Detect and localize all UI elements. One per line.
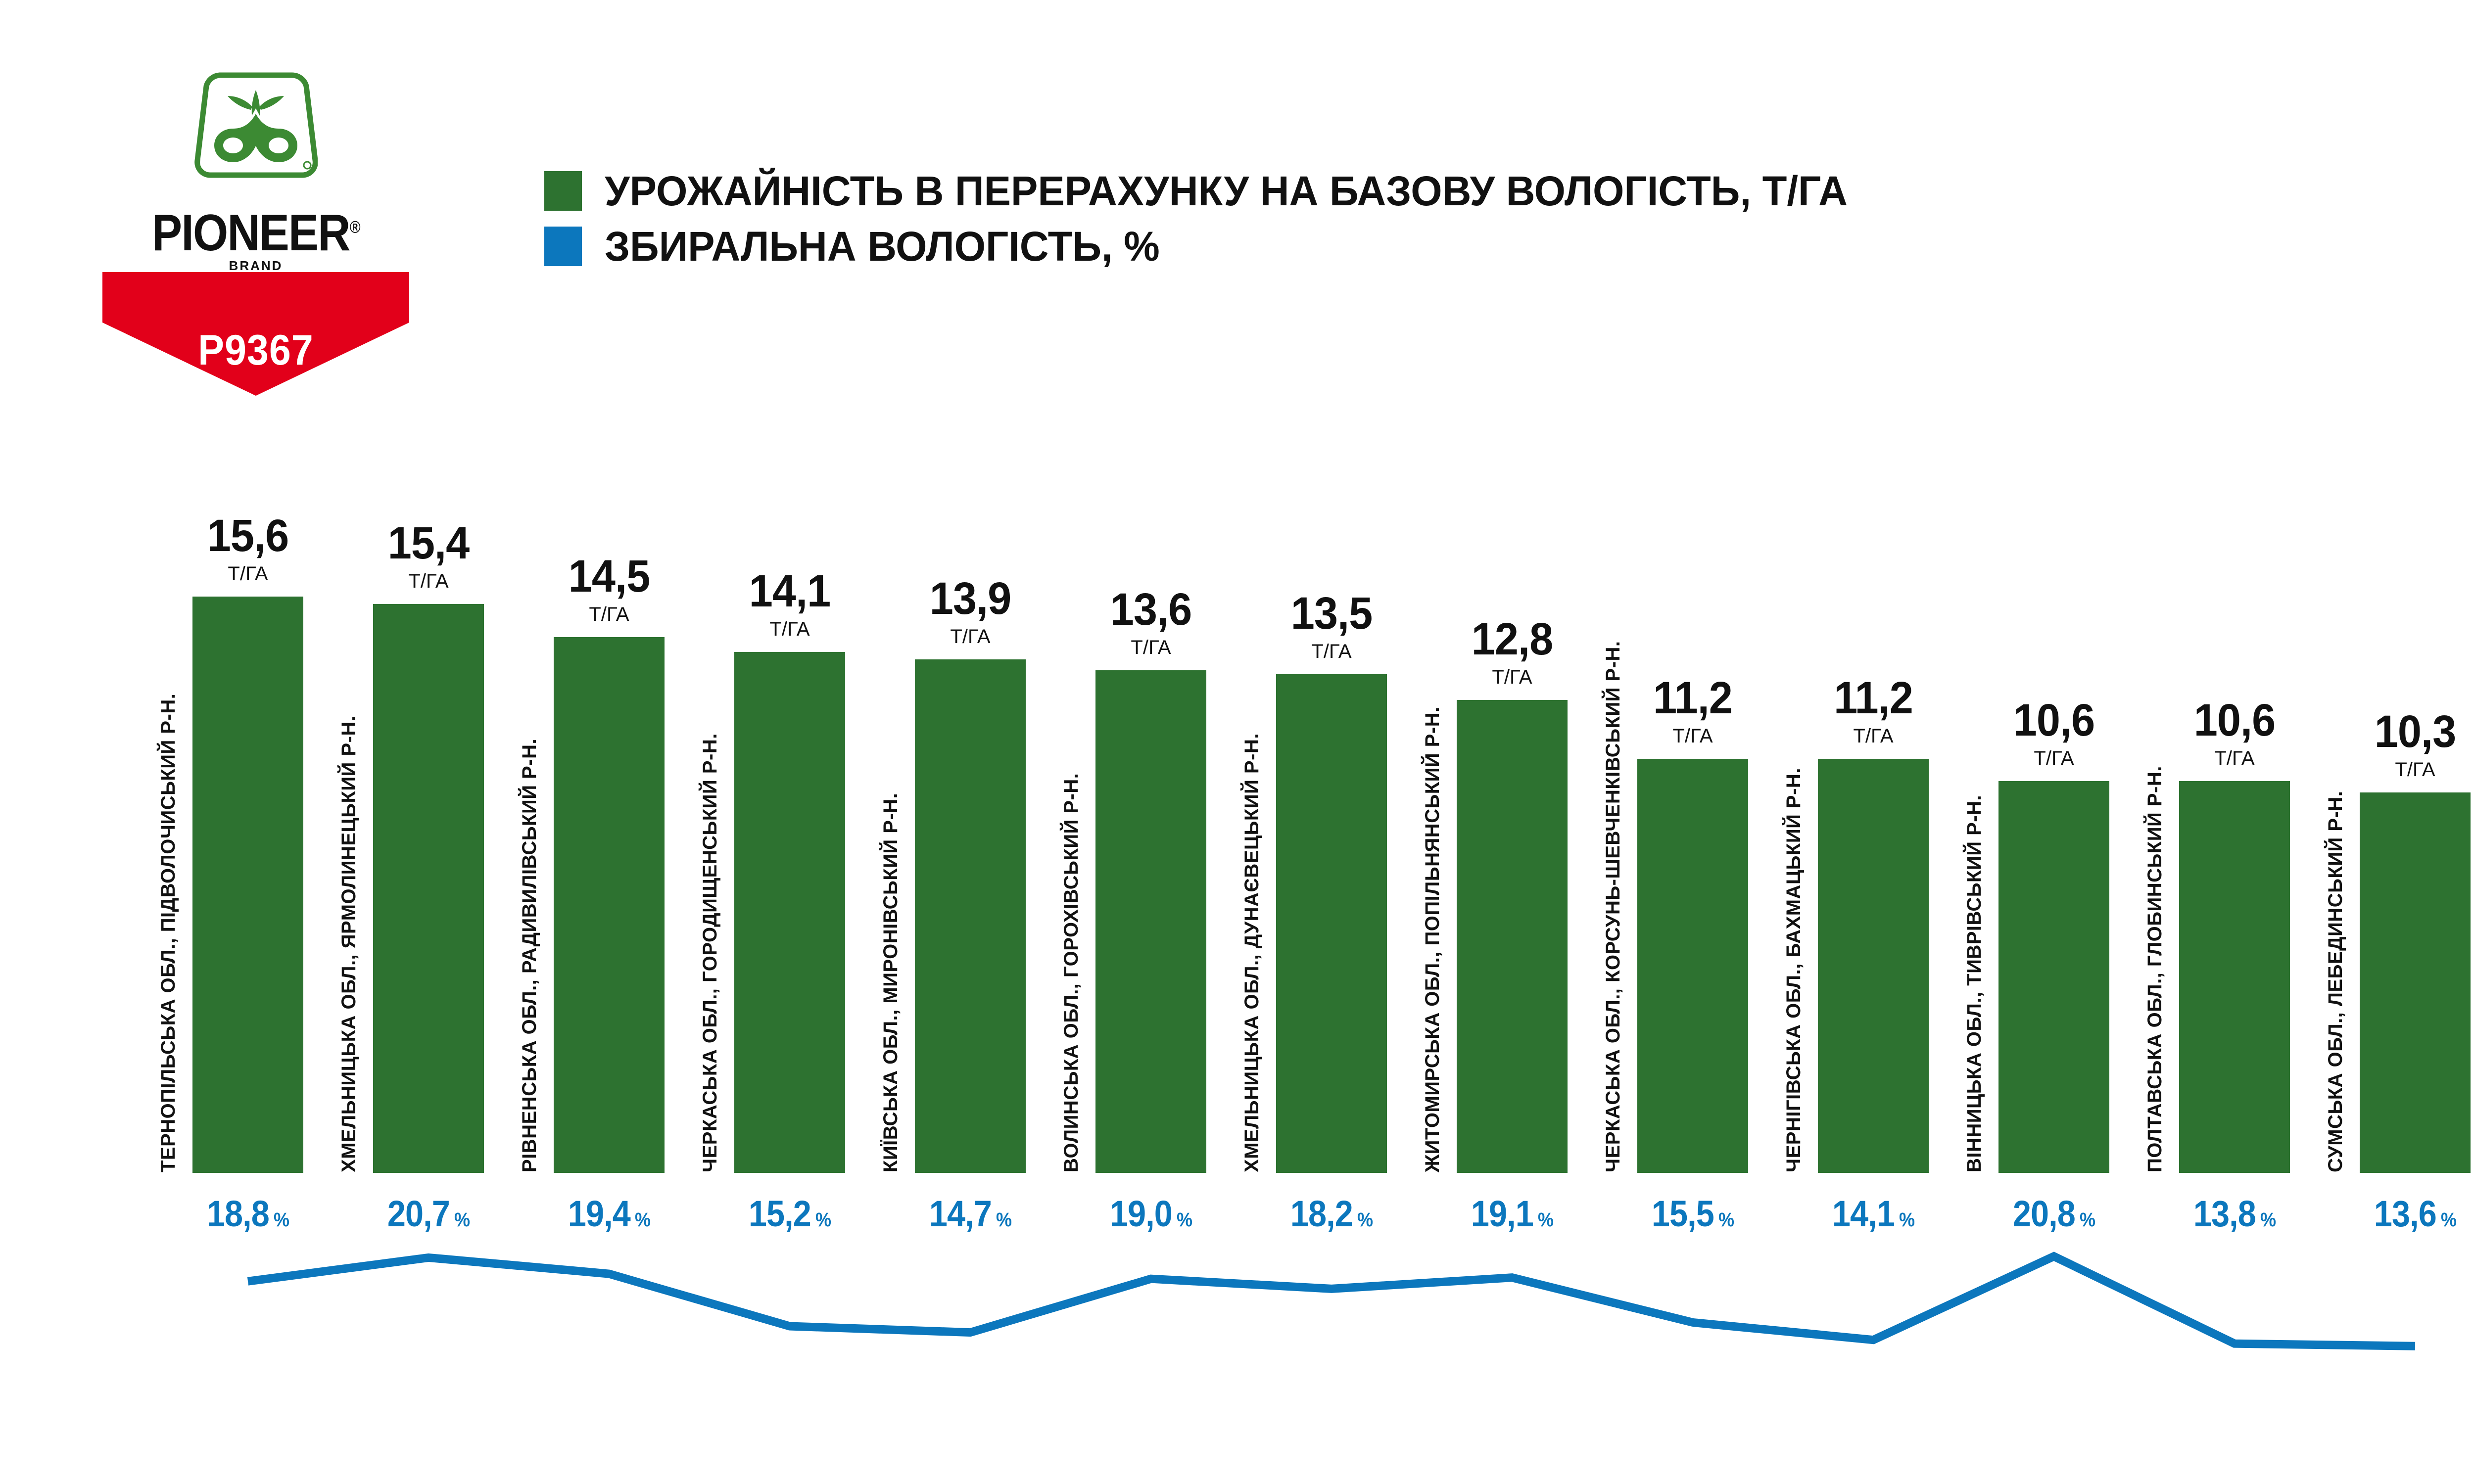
moisture-number: 18,2 — [1290, 1193, 1353, 1234]
category-label: ХМЕЛЬНИЦЬКА ОБЛ., ДУНАЄВЕЦЬКИЙ Р-Н. — [1241, 733, 1263, 1172]
percent-sign: % — [2075, 1209, 2095, 1231]
yield-value-label: 10,6 — [2154, 698, 2314, 742]
moisture-number: 14,1 — [1832, 1193, 1895, 1234]
yield-bar[interactable] — [1276, 674, 1387, 1173]
percent-sign: % — [630, 1209, 650, 1231]
yield-value-label: 13,9 — [890, 577, 1050, 620]
yield-unit-label: Т/ГА — [1246, 641, 1417, 663]
percent-sign: % — [2436, 1209, 2456, 1231]
moisture-value-label: 15,5 % — [1607, 1193, 1778, 1235]
yield-bar[interactable] — [1998, 781, 2109, 1173]
percent-sign: % — [1353, 1209, 1373, 1231]
moisture-number: 19,1 — [1471, 1193, 1533, 1234]
percent-sign: % — [1172, 1209, 1192, 1231]
category-label: ЧЕРКАСЬКА ОБЛ., ГОРОДИЩЕНСЬКИЙ Р-Н. — [699, 733, 721, 1172]
category-label: РІВНЕНСЬКА ОБЛ., РАДИВИЛІВСЬКИЙ Р-Н. — [519, 739, 541, 1172]
yield-bar[interactable] — [192, 597, 303, 1173]
category-label: ЧЕРКАСЬКА ОБЛ., КОРСУНЬ-ШЕВЧЕНКІВСЬКИЙ Р… — [1602, 641, 1624, 1172]
yield-unit-label: Т/ГА — [2330, 759, 2474, 781]
moisture-number: 14,7 — [929, 1193, 992, 1234]
moisture-value-label: 18,8 % — [162, 1193, 333, 1235]
percent-sign: % — [1714, 1209, 1734, 1231]
moisture-value-label: 20,8 % — [1968, 1193, 2140, 1235]
yield-value-label: 12,8 — [1432, 617, 1592, 661]
yield-bar[interactable] — [1095, 670, 1206, 1173]
yield-unit-label: Т/ГА — [1427, 666, 1597, 689]
percent-sign: % — [450, 1209, 470, 1231]
moisture-value-label: 19,0 % — [1065, 1193, 1237, 1235]
moisture-number: 19,4 — [568, 1193, 630, 1234]
yield-value-label: 14,5 — [529, 555, 689, 598]
yield-unit-label: Т/ГА — [163, 563, 333, 585]
yield-unit-label: Т/ГА — [524, 603, 694, 626]
yield-value-label: 11,2 — [1793, 676, 1953, 720]
moisture-value-label: 19,1 % — [1427, 1193, 1598, 1235]
yield-bar[interactable] — [373, 604, 484, 1173]
yield-unit-label: Т/ГА — [343, 570, 514, 593]
category-label: ХМЕЛЬНИЦЬКА ОБЛ., ЯРМОЛИНЕЦЬКИЙ Р-Н. — [338, 715, 360, 1172]
moisture-value-label: 14,7 % — [885, 1193, 1056, 1235]
category-label: ВІННИЦЬКА ОБЛ., ТИВРІВСЬКИЙ Р-Н. — [1963, 795, 1986, 1172]
yield-unit-label: Т/ГА — [885, 626, 1055, 648]
yield-value-label: 10,6 — [1974, 698, 2134, 742]
yield-unit-label: Т/ГА — [2149, 747, 2320, 770]
moisture-number: 18,8 — [207, 1193, 269, 1234]
moisture-value-label: 13,8 % — [2149, 1193, 2320, 1235]
percent-sign: % — [2256, 1209, 2276, 1231]
yield-unit-label: Т/ГА — [1066, 637, 1236, 659]
yield-bar[interactable] — [2360, 792, 2471, 1173]
moisture-value-label: 15,2 % — [704, 1193, 875, 1235]
yield-bar[interactable] — [734, 652, 845, 1173]
category-label: ЧЕРНІГІВСЬКА ОБЛ., БАХМАЦЬКИЙ Р-Н. — [1783, 768, 1805, 1172]
moisture-number: 15,2 — [749, 1193, 811, 1234]
yield-unit-label: Т/ГА — [1969, 747, 2139, 770]
moisture-number: 20,8 — [2013, 1193, 2075, 1234]
moisture-number: 13,8 — [2193, 1193, 2256, 1234]
moisture-value-label: 19,4 % — [523, 1193, 695, 1235]
category-label: СУМСЬКА ОБЛ., ЛЕБЕДИНСЬКИЙ Р-Н. — [2325, 791, 2347, 1172]
moisture-value-label: 20,7 % — [343, 1193, 514, 1235]
moisture-value-label: 13,6 % — [2330, 1193, 2474, 1235]
category-label: ПОЛТАВСЬКА ОБЛ., ГЛОБИНСЬКИЙ Р-Н. — [2144, 766, 2166, 1172]
yield-bar[interactable] — [1457, 700, 1568, 1173]
moisture-value-label: 18,2 % — [1246, 1193, 1417, 1235]
yield-value-label: 10,3 — [2335, 710, 2474, 753]
moisture-number: 15,5 — [1652, 1193, 1714, 1234]
yield-bar[interactable] — [2179, 781, 2290, 1173]
yield-value-label: 15,6 — [168, 514, 328, 557]
yield-unit-label: Т/ГА — [1608, 725, 1778, 747]
moisture-value-label: 14,1 % — [1788, 1193, 1959, 1235]
moisture-number: 19,0 — [1110, 1193, 1172, 1234]
yield-moisture-chart: 15,6Т/ГАТЕРНОПІЛЬСЬКА ОБЛ., ПІДВОЛОЧИСЬК… — [0, 0, 2474, 1484]
yield-bar[interactable] — [915, 659, 1026, 1173]
yield-value-label: 15,4 — [348, 521, 508, 565]
yield-bar[interactable] — [1637, 759, 1748, 1173]
percent-sign: % — [811, 1209, 831, 1231]
category-label: ВОЛИНСЬКА ОБЛ., ГОРОХІВСЬКИЙ Р-Н. — [1060, 773, 1083, 1172]
yield-bar[interactable] — [1818, 759, 1929, 1173]
moisture-number: 13,6 — [2374, 1193, 2436, 1234]
percent-sign: % — [992, 1209, 1011, 1231]
yield-value-label: 13,6 — [1071, 588, 1231, 631]
category-label: КИЇВСЬКА ОБЛ., МИРОНІВСЬКИЙ Р-Н. — [880, 793, 902, 1172]
yield-unit-label: Т/ГА — [1788, 725, 1958, 747]
moisture-number: 20,7 — [387, 1193, 450, 1234]
yield-bar[interactable] — [554, 637, 665, 1173]
percent-sign: % — [1533, 1209, 1553, 1231]
category-label: ЖИТОМИРСЬКА ОБЛ., ПОПІЛЬНЯНСЬКИЙ Р-Н. — [1422, 706, 1444, 1172]
percent-sign: % — [1895, 1209, 1914, 1231]
percent-sign: % — [269, 1209, 289, 1231]
yield-value-label: 13,5 — [1251, 592, 1411, 635]
yield-unit-label: Т/ГА — [705, 618, 875, 641]
yield-value-label: 14,1 — [710, 569, 869, 613]
category-label: ТЕРНОПІЛЬСЬКА ОБЛ., ПІДВОЛОЧИСЬКИЙ Р-Н. — [157, 694, 180, 1172]
yield-value-label: 11,2 — [1613, 676, 1772, 720]
